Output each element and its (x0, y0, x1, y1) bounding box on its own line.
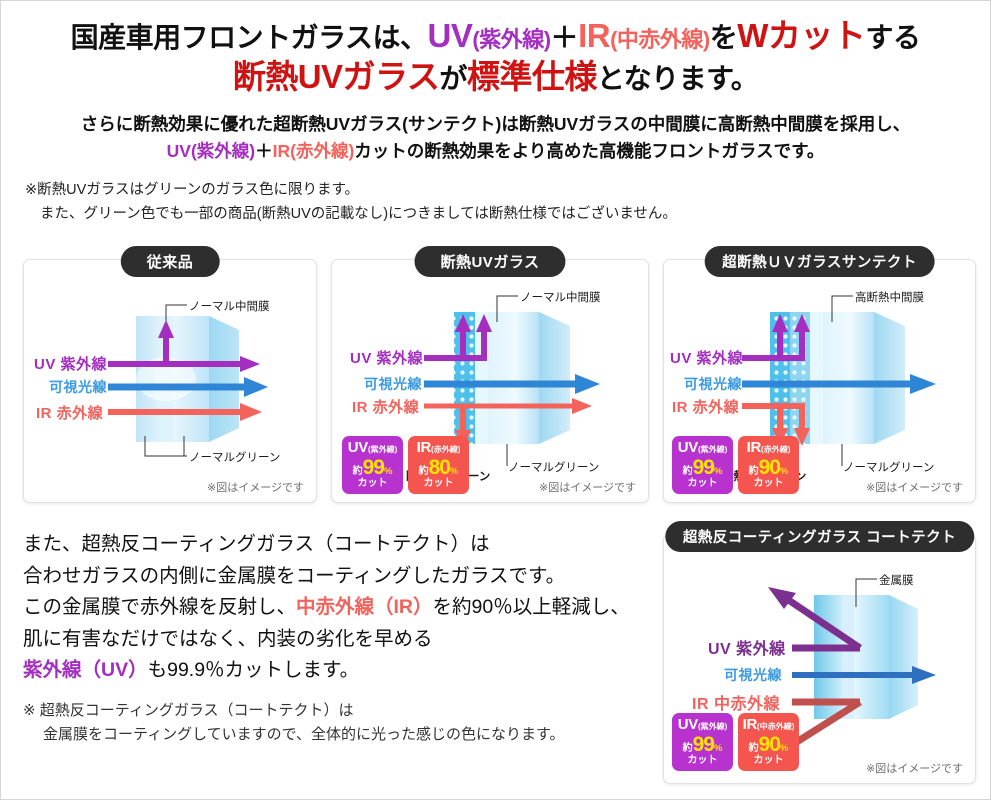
callout-green: ノーマルグリーン (843, 459, 934, 475)
subheadline: さらに断熱効果に優れた超断熱UVガラス(サンテクト)は断熱UVガラスの中間膜に高… (1, 111, 990, 165)
badge-uv: UV(紫外線) 約99% カット (672, 713, 733, 771)
text-run-0: 断熱UVガラス (233, 58, 440, 95)
text-run-3: カットの断熱効果をより高めた高機能フロントガラスです。 (354, 141, 824, 161)
badge-uv-header: UV(紫外線) (674, 440, 731, 455)
text-run-0: 紫外線（UV） (23, 659, 148, 681)
bottom-note-1: ※ 超熱反コーティングガラス（コートテクト）は (23, 699, 643, 723)
ray-label-visible: 可視光線 (49, 377, 107, 397)
badge-ir-cut: カット (740, 756, 797, 766)
bottom-line-5: 紫外線（UV）も99.9％カットします。 (23, 655, 643, 687)
subheadline-line-2: UV(紫外線)＋IR(赤外線)カットの断熱効果をより高めた高機能フロントガラスで… (1, 138, 990, 165)
ray-label-uv: UV 紫外線 (708, 635, 786, 659)
badge-uv-value: 約99% (674, 734, 731, 755)
badge-uv-value: 約99% (344, 457, 401, 478)
text-run-2: IR(赤外線) (273, 141, 355, 161)
ray-label-uv: UV 紫外線 (670, 347, 743, 368)
text-run-2: (紫外線) (472, 27, 550, 52)
bottom-line-2: 合わせガラスの内側に金属膜をコーティングしたガラスです。 (23, 561, 643, 593)
text-run-6: を (710, 22, 738, 53)
bottom-line-3: この金属膜で赤外線を反射し、中赤外線（IR）を約90％以上軽減し、 (23, 592, 643, 624)
panel-uvcut: 断熱UVガラス (331, 259, 649, 503)
badge-ir: IR(中赤外線) 約90% カット (738, 713, 799, 771)
bottom-line-1: また、超熱反コーティングガラス（コートテクト）は (23, 529, 643, 561)
badge-ir-header: IR(赤外線) (410, 440, 467, 455)
badge-uv-cut: カット (344, 479, 401, 489)
badge-uv: UV(紫外線) 約99% カット (342, 436, 403, 494)
header-notes: ※断熱UVガラスはグリーンのガラス色に限ります。 また、グリーン色でも一部の商品… (25, 179, 990, 226)
callout-metal-film: 金属膜 (879, 572, 914, 588)
ray-label-ir-mid: IR 中赤外線 (692, 690, 780, 714)
text-run-2: を約90％以上軽減し、 (433, 596, 630, 618)
text-run-1: も99.9％カットします。 (148, 659, 360, 681)
diagram-conventional: UV 紫外線 可視光線 IR 赤外線 ノーマル中間膜 ノーマルグリーン (24, 260, 316, 502)
text-run-7: Wカット (737, 17, 865, 54)
badge-uv-header: UV(紫外線) (674, 717, 731, 732)
ray-label-ir: IR 赤外線 (672, 396, 739, 417)
infographic-page: 国産車用フロントガラスは、UV(紫外線)＋IR(中赤外線)をWカットする 断熱U… (0, 0, 991, 800)
badge-ir-header: IR(中赤外線) (740, 717, 797, 732)
text-run-2: 標準仕様 (467, 58, 597, 95)
text-run-0: また、超熱反コーティングガラス（コートテクト）は (23, 533, 489, 555)
badge-ir-cut: カット (410, 479, 467, 489)
ray-label-uv: UV 紫外線 (350, 347, 423, 368)
callout-interlayer: ノーマル中間膜 (520, 289, 601, 305)
badge-ir-cut: カット (740, 479, 797, 489)
text-run-0: この金属膜で赤外線を反射し、 (23, 596, 296, 618)
text-run-1: 中赤外線（IR） (296, 596, 433, 618)
callout-green: ノーマルグリーン (189, 449, 280, 465)
badge-ir: IR(赤外線) 約80% カット (408, 436, 469, 494)
bottom-notes: ※ 超熱反コーティングガラス（コートテクト）は 金属膜をコーティングしていますの… (23, 699, 643, 747)
callout-interlayer: ノーマル中間膜 (189, 298, 270, 314)
badge-uv-cut: カット (674, 479, 731, 489)
callout-interlayer: 高断熱中間膜 (855, 289, 924, 305)
figure-note: ※図はイメージです (539, 479, 636, 495)
bottom-note-2: 金属膜をコーティングしていますので、全体的に光った感じの色になります。 (23, 723, 643, 747)
badge-ir-value: 約80% (410, 457, 467, 478)
badges-suntect: UV(紫外線) 約99% カット IR(赤外線) 約90% カット (672, 436, 799, 494)
headline-line-2: 断熱UVガラスが標準仕様となります。 (1, 58, 990, 97)
text-run-0: 肌に有害なだけではなく、内装の劣化を早める (23, 628, 433, 650)
bottom-description: また、超熱反コーティングガラス（コートテクト）は 合わせガラスの内側に金属膜をコ… (23, 529, 643, 747)
diagram-suntect: UV 紫外線 可視光線 IR 赤外線 高断熱中間膜 ノーマルグリーン 断熱UVグ… (664, 260, 975, 502)
header-note-1: ※断熱UVガラスはグリーンのガラス色に限ります。 (25, 179, 990, 202)
panel-coattect: 超熱反コーティングガラス コートテクト (663, 534, 976, 784)
ray-label-ir: IR 赤外線 (352, 396, 419, 417)
ray-label-ir: IR 赤外線 (36, 402, 103, 423)
text-run-1: が (439, 63, 467, 94)
panel-suntect: 超断熱ＵＶガラスサンテクト (663, 259, 976, 503)
diagram-uvcut: UV 紫外線 可視光線 IR 赤外線 ノーマル中間膜 ノーマルグリーン 断熱UV… (332, 260, 648, 502)
badge-ir: IR(赤外線) 約90% カット (738, 436, 799, 494)
badges-uvcut: UV(紫外線) 約99% カット IR(赤外線) 約80% カット (342, 436, 469, 494)
badge-ir-value: 約90% (740, 734, 797, 755)
ray-label-visible: 可視光線 (364, 374, 422, 394)
subheadline-line-1: さらに断熱効果に優れた超断熱UVガラス(サンテクト)は断熱UVガラスの中間膜に高… (1, 111, 990, 138)
figure-note: ※図はイメージです (207, 479, 304, 495)
ray-label-visible: 可視光線 (724, 665, 782, 685)
text-run-0: 国産車用フロントガラスは、 (71, 22, 428, 53)
badges-coattect: UV(紫外線) 約99% カット IR(中赤外線) 約90% カット (672, 713, 799, 771)
text-run-4: IR (578, 17, 610, 54)
callout-green: ノーマルグリーン (508, 459, 599, 475)
badge-ir-header: IR(赤外線) (740, 440, 797, 455)
badge-uv-header: UV(紫外線) (344, 440, 401, 455)
text-run-1: UV (428, 17, 473, 54)
panel-conventional: 従来品 (23, 259, 317, 503)
text-run-0: 合わせガラスの内側に金属膜をコーティングしたガラスです。 (23, 565, 565, 587)
ray-label-visible: 可視光線 (684, 374, 742, 394)
header-note-2: また、グリーン色でも一部の商品(断熱UVの記載なし)につきましては断熱仕様ではご… (25, 203, 990, 226)
badge-uv-value: 約99% (674, 457, 731, 478)
headline-line-1: 国産車用フロントガラスは、UV(紫外線)＋IR(中赤外線)をWカットする (1, 17, 990, 56)
diagram-coattect: UV 紫外線 可視光線 IR 中赤外線 金属膜 UV(紫外線) 約99% カット… (664, 535, 975, 783)
figure-note: ※図はイメージです (866, 479, 963, 495)
text-run-3: ＋ (551, 22, 579, 53)
ray-label-uv: UV 紫外線 (34, 353, 107, 374)
text-run-1: ＋ (255, 141, 273, 161)
text-run-3: となります。 (597, 63, 758, 94)
header: 国産車用フロントガラスは、UV(紫外線)＋IR(中赤外線)をWカットする 断熱U… (1, 1, 990, 97)
badge-ir-value: 約90% (740, 457, 797, 478)
badge-uv: UV(紫外線) 約99% カット (672, 436, 733, 494)
text-run-8: する (865, 22, 920, 53)
badge-uv-cut: カット (674, 756, 731, 766)
text-run-0: UV(紫外線) (167, 141, 255, 161)
figure-note: ※図はイメージです (866, 760, 963, 776)
bottom-line-4: 肌に有害なだけではなく、内装の劣化を早める (23, 624, 643, 656)
text-run-5: (中赤外線) (610, 27, 710, 52)
